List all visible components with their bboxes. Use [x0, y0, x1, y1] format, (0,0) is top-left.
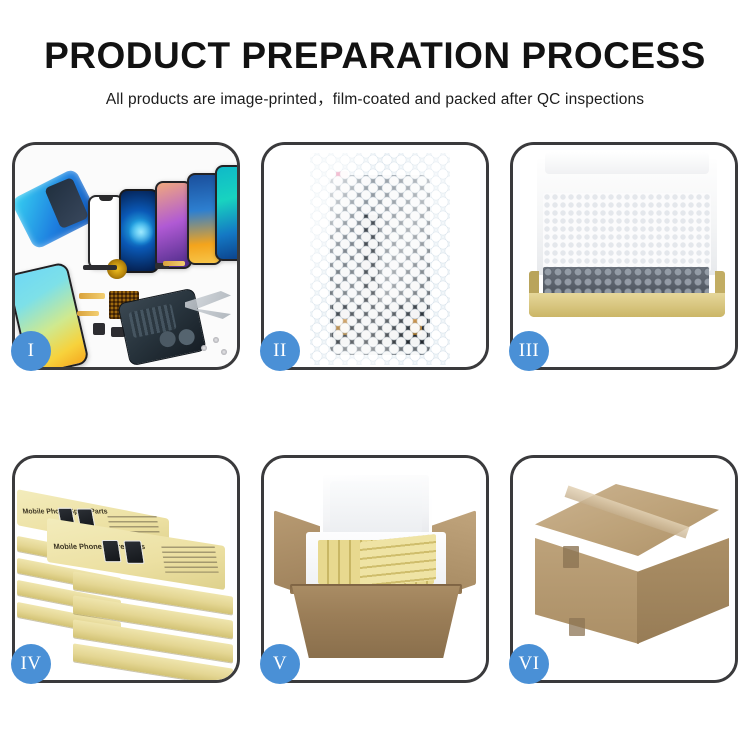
screw-3 — [221, 349, 227, 355]
packed-retail-boxes-stack — [360, 534, 436, 588]
sealed-carton-front — [535, 538, 639, 644]
flex-cable-1 — [163, 261, 185, 266]
infographic-page: PRODUCT PREPARATION PROCESS All products… — [0, 0, 750, 750]
step-5-image — [264, 458, 486, 680]
process-step-4: Mobile Phone Spare Parts Mobile Phone Sp… — [12, 455, 240, 683]
carton-seam-top — [563, 546, 579, 568]
step-badge-4: IV — [11, 644, 51, 684]
flex-cable-2 — [79, 293, 105, 299]
flex-cable-3 — [77, 311, 99, 316]
chip-part-1 — [83, 265, 117, 270]
step-badge-2: II — [260, 331, 300, 371]
bubble-wrapped-contents — [543, 267, 709, 295]
process-step-grid: I II — [12, 142, 738, 683]
process-step-2: II — [261, 142, 489, 370]
process-step-3: III — [510, 142, 738, 370]
plastic-sheen — [310, 153, 450, 365]
screw-2 — [201, 345, 207, 351]
box-thumbnail-b2 — [123, 541, 144, 564]
page-subtitle: All products are image-printed，film-coat… — [0, 87, 750, 109]
header: PRODUCT PREPARATION PROCESS All products… — [0, 0, 750, 109]
process-step-6: VI — [510, 455, 738, 683]
foam-sheet — [543, 193, 711, 271]
step-3-image — [513, 145, 735, 367]
phone-screen-teal — [215, 165, 237, 261]
box-tray-front — [529, 293, 725, 317]
phone-screen-jellyfish — [119, 189, 159, 273]
chip-part-3 — [93, 323, 105, 335]
screw-1 — [213, 337, 219, 343]
carton-seam-bottom — [569, 618, 585, 636]
sealed-carton-side — [637, 538, 729, 644]
bubble-wrap-bag — [310, 153, 450, 365]
step-4-image: Mobile Phone Spare Parts Mobile Phone Sp… — [15, 458, 237, 680]
process-step-5: V — [261, 455, 489, 683]
step-badge-6: VI — [509, 644, 549, 684]
step-badge-3: III — [509, 331, 549, 371]
step-badge-1: I — [11, 331, 51, 371]
page-title: PRODUCT PREPARATION PROCESS — [0, 34, 750, 78]
step-badge-5: V — [260, 644, 300, 684]
process-step-1: I — [12, 142, 240, 370]
box-thumbnail-b1 — [101, 540, 121, 562]
carton-body — [292, 586, 460, 658]
step-2-image — [264, 145, 486, 367]
step-1-image — [15, 145, 237, 367]
step-6-image — [513, 458, 735, 680]
box-spec-lines-b — [161, 546, 218, 572]
